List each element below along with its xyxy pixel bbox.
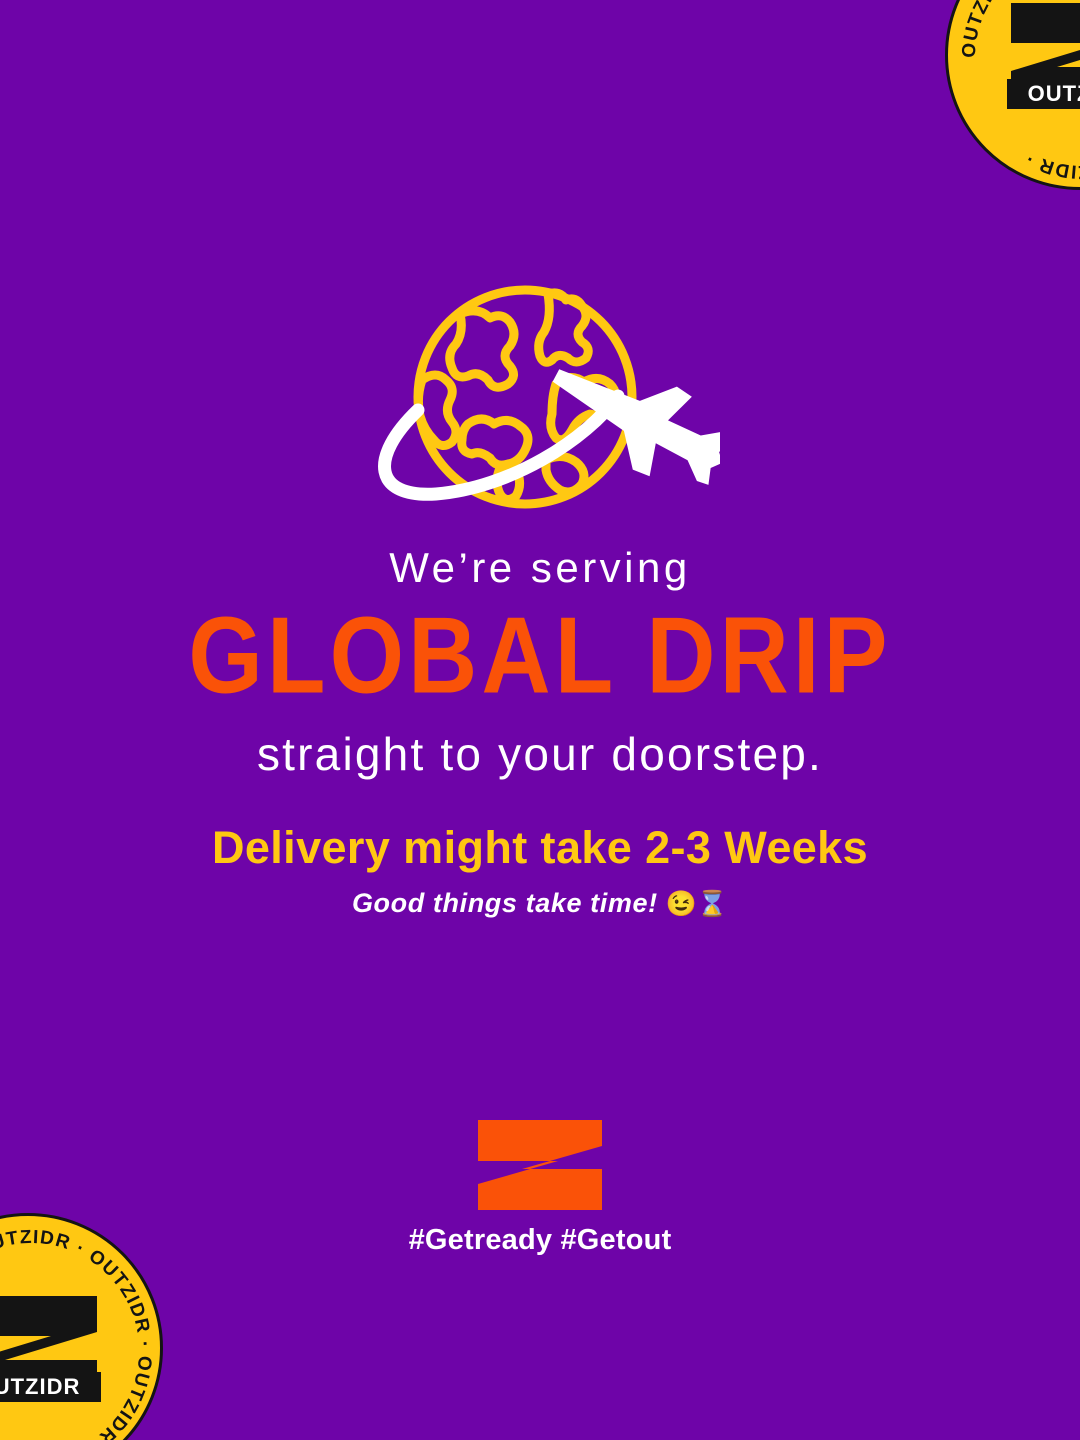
badge-emblem-wordmark: OUTZIDR (0, 1372, 101, 1402)
wink-hourglass-emoji: 😉⌛ (666, 890, 728, 918)
headline-line-1: We’re serving (0, 545, 1080, 591)
globe-airplane-illustration (360, 272, 720, 522)
badge-emblem-bottom-left: OUTZIDR (0, 1292, 103, 1404)
headline-line-2: GLOBAL DRIP (0, 598, 1080, 715)
outzidr-badge-top-right: OUTZIDR · OUTZIDR · OUTZIDR · OUTZIDR · … (945, 0, 1080, 190)
outzidr-z-logo-icon (478, 1120, 602, 1210)
globe-icon (360, 272, 720, 522)
delivery-notice: Delivery might take 2-3 Weeks (0, 822, 1080, 874)
footer-hashtags: #Getready #Getout (0, 1224, 1080, 1257)
badge-emblem-wordmark: OUTZIDR (1007, 79, 1080, 109)
delivery-subnote-text: Good things take time! (352, 888, 658, 918)
headline-block: We’re serving GLOBAL DRIP straight to yo… (0, 545, 1080, 779)
headline-line-3: straight to your doorstep. (0, 729, 1080, 780)
delivery-block: Delivery might take 2-3 Weeks Good thing… (0, 822, 1080, 919)
badge-emblem-top-right: OUTZIDR (1005, 0, 1080, 111)
delivery-subnote: Good things take time! 😉⌛ (0, 888, 1080, 919)
poster-canvas: OUTZIDR · OUTZIDR · OUTZIDR · OUTZIDR · … (0, 0, 1080, 1440)
footer-block: #Getready #Getout (0, 1120, 1080, 1257)
